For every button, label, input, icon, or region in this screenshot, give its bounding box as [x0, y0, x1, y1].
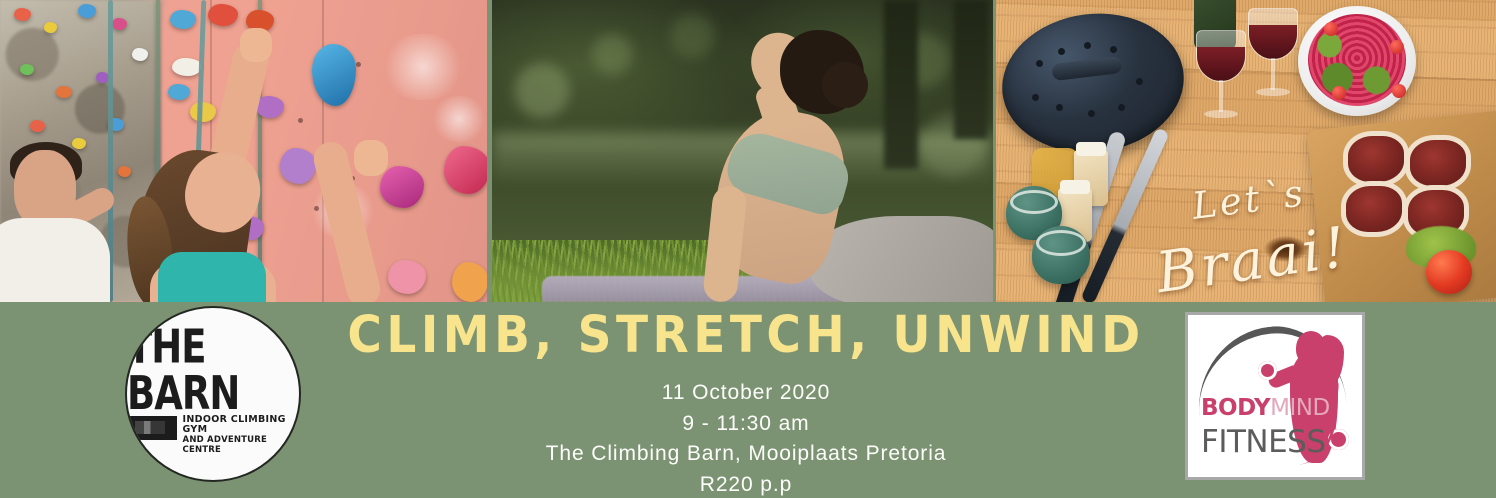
barn-subtitle-row: INDOOR CLIMBING GYM AND ADVENTURE CENTRE	[127, 415, 299, 455]
climbing-hold	[14, 8, 31, 21]
climbing-hold	[118, 166, 131, 177]
climbing-hold	[30, 120, 45, 132]
yoga-photo	[492, 0, 993, 302]
bodymind-body-word: BODY	[1201, 395, 1270, 421]
dumbbell-icon	[1258, 361, 1277, 380]
climbing-hold	[380, 166, 424, 208]
belayer-head	[14, 150, 76, 228]
tomato	[1426, 250, 1472, 294]
climbing-hold	[44, 22, 57, 33]
barn-logo-bar	[127, 416, 177, 440]
yogi-hair-bun	[822, 62, 868, 108]
lamb-chop	[1410, 140, 1466, 186]
photo-strip: Let`s Braai!	[0, 0, 1496, 302]
climbing-hold	[190, 102, 216, 122]
climbing-hold	[280, 148, 316, 184]
climbing-hold	[452, 262, 487, 302]
bodymind-wordmark: BODYMIND FITNESS	[1201, 397, 1330, 458]
event-time: 9 - 11:30 am	[546, 409, 947, 440]
event-banner: Let`s Braai! THE BARN INDOOR CLIMBING GY…	[0, 0, 1496, 498]
belayer-torso	[0, 218, 110, 302]
event-price: R220 p.p	[546, 470, 947, 498]
yoga-mat	[542, 276, 853, 302]
climbing-hold	[112, 18, 127, 30]
climber-left-hand	[240, 28, 272, 62]
barn-subtitle: INDOOR CLIMBING GYM AND ADVENTURE CENTRE	[183, 415, 299, 455]
climbing-hold	[78, 4, 96, 18]
tree-trunk	[954, 0, 988, 139]
bodymind-fitness-logo[interactable]: BODYMIND FITNESS	[1185, 312, 1365, 480]
barn-wordmark: THE BARN	[127, 324, 299, 417]
climbing-hold	[256, 96, 284, 118]
climbing-hold	[170, 10, 196, 29]
climbing-hold	[168, 84, 190, 100]
climbing-hold	[72, 138, 86, 149]
tree-trunk	[884, 0, 918, 169]
lamb-chop	[1348, 136, 1404, 182]
event-headline: CLIMB, STRETCH, UNWIND	[347, 308, 1144, 364]
bodymind-fitness-word: FITNESS	[1201, 427, 1330, 458]
event-date: 11 October 2020	[546, 378, 947, 409]
yogi-hips	[810, 216, 993, 302]
climbing-hold	[132, 48, 148, 61]
event-details: 11 October 2020 9 - 11:30 am The Climbin…	[546, 378, 947, 498]
climbing-hold	[388, 260, 426, 294]
barn-subtitle-line2: AND ADVENTURE CENTRE	[183, 436, 299, 455]
event-venue: The Climbing Barn, Mooiplaats Pretoria	[546, 439, 947, 470]
climbing-hold	[20, 64, 34, 75]
info-band: THE BARN INDOOR CLIMBING GYM AND ADVENTU…	[0, 302, 1496, 498]
event-text-block: CLIMB, STRETCH, UNWIND 11 October 2020 9…	[316, 302, 1176, 498]
climber-right-hand	[354, 140, 388, 176]
climbing-hold	[444, 146, 487, 194]
climber-sports-top	[158, 252, 266, 302]
lamb-chop	[1346, 186, 1402, 232]
climbing-hold	[208, 4, 238, 26]
braai-photo: Let`s Braai!	[996, 0, 1496, 302]
climbing-hold	[56, 86, 72, 98]
climbing-photo	[0, 0, 487, 302]
bodymind-mind-word: MIND	[1270, 395, 1330, 421]
climbing-hold	[172, 58, 202, 76]
the-barn-logo[interactable]: THE BARN INDOOR CLIMBING GYM AND ADVENTU…	[127, 308, 299, 480]
